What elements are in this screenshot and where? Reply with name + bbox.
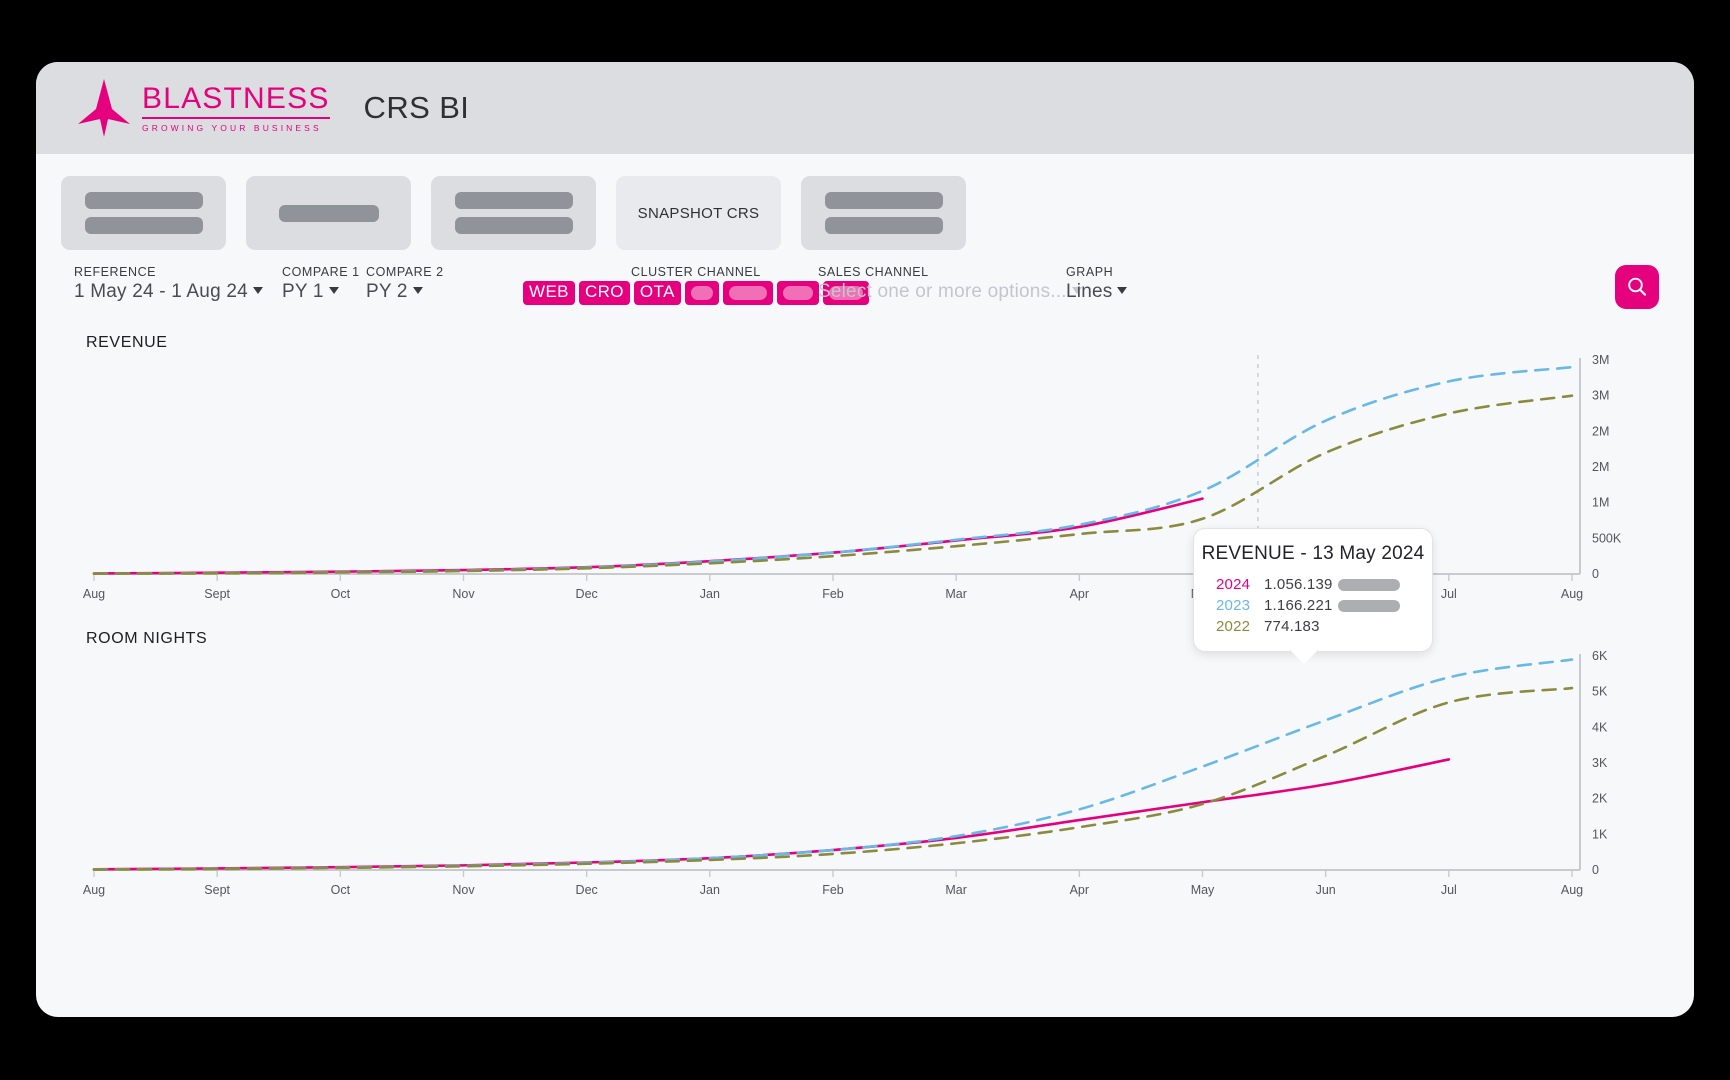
logo-wordmark: BLASTNESS [142, 84, 330, 119]
y-axis-tick-label: 1M [1592, 496, 1609, 510]
chevron-down-icon [1117, 287, 1127, 294]
tooltip-series-year: 2023 [1216, 597, 1264, 614]
compare1-value-text: PY 1 [282, 281, 324, 302]
revenue-chart-title: REVENUE [86, 334, 1694, 352]
filter-sales-channel-label: SALES CHANNEL [818, 265, 1082, 279]
logo-text: BLASTNESS GROWING YOUR BUSINESS [142, 84, 330, 133]
y-axis-tick-label: 5K [1592, 685, 1608, 699]
room-nights-chart-svg: 6K5K4K3K2K1K0AugSeptOctNovDecJanFebMarAp… [36, 648, 1694, 913]
toolbar: SNAPSHOT CRS [36, 154, 1694, 250]
graph-type-select[interactable]: Lines [1066, 281, 1127, 302]
cluster-channel-pill-6[interactable] [777, 281, 819, 305]
filter-compare-1: COMPARE 1 PY 1 [282, 265, 360, 303]
room-nights-chart: 6K5K4K3K2K1K0AugSeptOctNovDecJanFebMarAp… [36, 648, 1694, 913]
y-axis-tick-label: 3K [1592, 756, 1608, 770]
filter-reference-value[interactable]: 1 May 24 - 1 Aug 24 [74, 281, 263, 302]
redacted-bar [825, 192, 943, 209]
x-axis-tick-label: Aug [83, 587, 105, 601]
cluster-channel-pill-list: WEB CRO OTA [523, 281, 869, 305]
x-axis-tick-label: Oct [331, 587, 351, 601]
x-axis-tick-label: Dec [576, 883, 598, 897]
cluster-channel-pill-5[interactable] [723, 281, 773, 305]
x-axis-tick-label: May [1191, 883, 1215, 897]
y-axis-tick-label: 2M [1592, 460, 1609, 474]
tooltip-row: 2024 1.056.139 [1194, 576, 1432, 593]
toolbar-button-1[interactable] [61, 176, 226, 250]
chevron-down-icon [413, 287, 423, 294]
redacted-bar [729, 286, 767, 300]
filter-compare1-value[interactable]: PY 1 [282, 281, 339, 302]
toolbar-button-snapshot-crs[interactable]: SNAPSHOT CRS [616, 176, 781, 250]
y-axis-tick-label: 0 [1592, 863, 1599, 877]
x-axis-tick-label: Mar [945, 587, 967, 601]
tooltip-series-value: 1.166.221 [1264, 597, 1338, 614]
redacted-bar [455, 217, 573, 234]
chevron-down-icon [253, 287, 263, 294]
y-axis-tick-label: 3M [1592, 389, 1609, 403]
filter-reference: REFERENCE 1 May 24 - 1 Aug 24 [74, 265, 263, 303]
blastness-logo[interactable]: BLASTNESS GROWING YOUR BUSINESS [78, 79, 330, 137]
x-axis-tick-label: Dec [576, 587, 598, 601]
blastness-mark-icon [78, 79, 130, 137]
toolbar-button-5[interactable] [801, 176, 966, 250]
cluster-channel-pill-ota[interactable]: OTA [634, 281, 681, 305]
toolbar-button-3[interactable] [431, 176, 596, 250]
filter-compare-2: COMPARE 2 PY 2 [366, 265, 444, 303]
redacted-bar [783, 286, 813, 300]
x-axis-tick-label: Apr [1070, 587, 1089, 601]
x-axis-tick-label: Apr [1070, 883, 1089, 897]
cluster-channel-pill-4[interactable] [685, 281, 719, 305]
compare2-value-text: PY 2 [366, 281, 408, 302]
y-axis-tick-label: 2M [1592, 424, 1609, 438]
cluster-channel-pill-web[interactable]: WEB [523, 281, 575, 305]
y-axis-tick-label: 4K [1592, 720, 1608, 734]
y-axis-tick-label: 0 [1592, 567, 1599, 581]
filter-graph: GRAPH Lines [1066, 265, 1127, 303]
redacted-bar [85, 192, 203, 209]
chevron-down-icon [329, 287, 339, 294]
search-button[interactable] [1615, 265, 1659, 309]
filter-sales-channel: SALES CHANNEL Select one or more options… [818, 265, 1082, 303]
toolbar-button-2[interactable] [246, 176, 411, 250]
filter-compare2-value[interactable]: PY 2 [366, 281, 423, 302]
filter-cluster-channel: CLUSTER CHANNEL WEB CRO OTA [523, 265, 869, 305]
x-axis-tick-label: Feb [822, 883, 844, 897]
x-axis-tick-label: Jan [700, 883, 720, 897]
x-axis-tick-label: Sept [204, 883, 230, 897]
redacted-bar [85, 217, 203, 234]
revenue-chart-svg: 3M3M2M2M1M500K0AugSeptOctNovDecJanFebMar… [36, 352, 1694, 617]
tooltip-series-year: 2024 [1216, 576, 1264, 593]
x-axis-tick-label: Aug [1561, 883, 1583, 897]
filter-graph-label: GRAPH [1066, 265, 1127, 279]
redacted-bar [455, 192, 573, 209]
tooltip-series-value: 774.183 [1264, 618, 1338, 635]
redacted-bar [825, 217, 943, 234]
x-axis-tick-label: Oct [331, 883, 351, 897]
room-nights-chart-title: ROOM NIGHTS [86, 630, 1694, 648]
filter-compare1-label: COMPARE 1 [282, 265, 360, 279]
x-axis-tick-label: Nov [452, 587, 475, 601]
x-axis-tick-label: Mar [945, 883, 967, 897]
chart-series-line-2023 [94, 660, 1572, 870]
filter-bar: REFERENCE 1 May 24 - 1 Aug 24 COMPARE 1 … [36, 265, 1694, 321]
chart-tooltip: REVENUE - 13 May 2024 2024 1.056.139 202… [1193, 528, 1433, 652]
chart-series-line-2024 [94, 499, 1203, 574]
y-axis-tick-label: 3M [1592, 353, 1609, 367]
y-axis-tick-label: 6K [1592, 649, 1608, 663]
app-window: BLASTNESS GROWING YOUR BUSINESS CRS BI S… [36, 62, 1694, 1017]
tooltip-row: 2022 774.183 [1194, 618, 1432, 635]
redacted-bar [1338, 600, 1400, 612]
filter-compare2-label: COMPARE 2 [366, 265, 444, 279]
filter-cluster-channel-label: CLUSTER CHANNEL [523, 265, 869, 279]
y-axis-tick-label: 1K [1592, 827, 1608, 841]
x-axis-tick-label: Sept [204, 587, 230, 601]
x-axis-tick-label: Jan [700, 587, 720, 601]
tooltip-row: 2023 1.166.221 [1194, 597, 1432, 614]
revenue-chart: 3M3M2M2M1M500K0AugSeptOctNovDecJanFebMar… [36, 352, 1694, 617]
x-axis-tick-label: Nov [452, 883, 475, 897]
y-axis-tick-label: 500K [1592, 531, 1622, 545]
tooltip-series-value: 1.056.139 [1264, 576, 1338, 593]
search-icon [1626, 276, 1648, 298]
page-title: CRS BI [364, 90, 470, 126]
x-axis-tick-label: Jul [1441, 883, 1457, 897]
x-axis-tick-label: Jun [1316, 883, 1336, 897]
graph-type-value: Lines [1066, 281, 1112, 302]
x-axis-tick-label: Aug [1561, 587, 1583, 601]
redacted-bar [691, 286, 713, 300]
app-header: BLASTNESS GROWING YOUR BUSINESS CRS BI [36, 62, 1694, 154]
sales-channel-placeholder: Select one or more options... [818, 281, 1067, 302]
x-axis-tick-label: Aug [83, 883, 105, 897]
toolbar-button-label: SNAPSHOT CRS [638, 205, 760, 222]
y-axis-tick-label: 2K [1592, 792, 1608, 806]
redacted-bar [1338, 579, 1400, 591]
redacted-bar [279, 205, 379, 222]
logo-tagline: GROWING YOUR BUSINESS [142, 123, 330, 133]
filter-reference-label: REFERENCE [74, 265, 263, 279]
x-axis-tick-label: Feb [822, 587, 844, 601]
x-axis-tick-label: Jul [1441, 587, 1457, 601]
chart-series-line-2024 [94, 759, 1449, 869]
tooltip-series-year: 2022 [1216, 618, 1264, 635]
reference-date-range: 1 May 24 - 1 Aug 24 [74, 281, 248, 302]
sales-channel-select[interactable]: Select one or more options... [818, 281, 1082, 302]
tooltip-title: REVENUE - 13 May 2024 [1194, 543, 1432, 565]
cluster-channel-pill-cro[interactable]: CRO [579, 281, 630, 305]
